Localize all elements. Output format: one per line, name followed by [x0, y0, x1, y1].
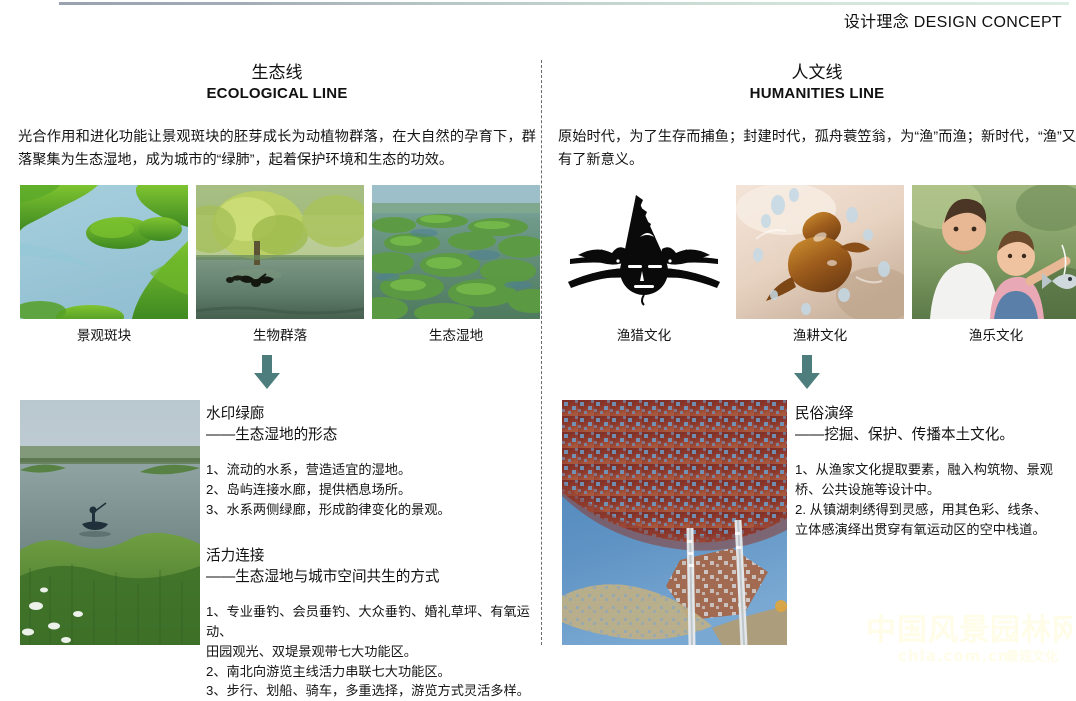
ecological-heading: 生态线 ECOLOGICAL LINE [18, 62, 536, 104]
eco-block-title: 水印绿廊 [206, 404, 542, 425]
father-child-fish-photo [912, 185, 1076, 319]
page-title: 设计理念 DESIGN CONCEPT [844, 8, 1062, 32]
list-item: 1、流动的水系，营造适宜的湿地。 [206, 460, 542, 480]
list-item: 1、从渔家文化提取要素，融入构筑物、景观 桥、公共设施等设计中。 [795, 460, 1076, 500]
eco-block-list-1: 1、流动的水系，营造适宜的湿地。 2、岛屿连接水廊，提供栖息场所。 3、水系两侧… [206, 460, 542, 519]
list-item: 1、专业垂钓、会员垂钓、大众垂钓、婚礼草坪、有氧运动、 田园观光、双堤景观带七大… [206, 602, 542, 661]
eco-block-subtitle: ——生态湿地的形态 [206, 425, 542, 446]
ecological-bottom-text: 水印绿廊 ——生态湿地的形态 1、流动的水系，营造适宜的湿地。 2、岛屿连接水廊… [206, 404, 542, 701]
arrow-down-icon-ecological [247, 352, 287, 392]
eco-block-list-2: 1、专业垂钓、会员垂钓、大众垂钓、婚礼草坪、有氧运动、 田园观光、双堤景观带七大… [206, 602, 542, 701]
hum-block-title: 民俗演绎 [795, 404, 1076, 425]
thumbnail-caption: 生态湿地 [372, 329, 540, 343]
thumbnail-caption: 生物群落 [196, 329, 364, 343]
wetland-channels-photo [20, 185, 188, 319]
spacer [206, 520, 542, 546]
humanities-heading: 人文线 HUMANITIES LINE [558, 62, 1076, 104]
humanities-intro-text: 原始时代，为了生存而捕鱼；封建时代，孤舟蓑笠翁，为“渔”而渔；新时代，“渔”又有… [558, 126, 1076, 172]
humanities-column: 人文线 HUMANITIES LINE 原始时代，为了生存而捕鱼；封建时代，孤舟… [558, 62, 1076, 172]
svg-text:中国风景园林网: 中国风景园林网 [866, 613, 1072, 648]
eco-block-subtitle-2: ——生态湿地与城市空间共生的方式 [206, 567, 542, 588]
thumbnail-caption: 渔乐文化 [912, 329, 1076, 343]
ecological-heading-cn: 生态线 [18, 62, 536, 84]
humanities-bottom-text: 民俗演绎 ——挖掘、保护、传播本土文化。 1、从渔家文化提取要素，融入构筑物、景… [795, 404, 1076, 540]
ecological-heading-en: ECOLOGICAL LINE [18, 84, 536, 104]
thumbnail-item[interactable]: 渔耕文化 [736, 185, 904, 343]
thumbnail-item[interactable]: 渔乐文化 [912, 185, 1076, 343]
hum-block-list-1: 1、从渔家文化提取要素，融入构筑物、景观 桥、公共设施等设计中。 2. 从镇湖刺… [795, 460, 1076, 539]
thumbnail-caption: 景观斑块 [20, 329, 188, 343]
humanities-heading-cn: 人文线 [558, 62, 1076, 84]
list-item: 3、水系两侧绿廊，形成韵律变化的景观。 [206, 500, 542, 520]
thumbnail-item[interactable]: 生态湿地 [372, 185, 540, 343]
ecological-column: 生态线 ECOLOGICAL LINE 光合作用和进化功能让景观斑块的胚芽成长为… [18, 62, 536, 172]
thumbnail-caption: 渔耕文化 [736, 329, 904, 343]
boat-in-reeds-photo [20, 400, 200, 645]
humanities-heading-en: HUMANITIES LINE [558, 84, 1076, 104]
fish-splash-photo [736, 185, 904, 319]
top-gradient-rule [59, 2, 1069, 5]
thumbnail-item[interactable]: 生物群落 [196, 185, 364, 343]
svg-text:景观文化: 景观文化 [1006, 649, 1058, 665]
ecological-thumbnail-row: 景观斑块 [20, 185, 540, 343]
list-item: 3、步行、划船、骑车，多重选择，游览方式灵活多样。 [206, 681, 542, 701]
list-item: 2. 从镇湖刺绣得到灵感，用其色彩、线条、 立体感演绎出贯穿有氧运动区的空中栈道… [795, 500, 1076, 540]
aerial-marsh-photo [372, 185, 540, 319]
thumbnail-item[interactable]: 渔猎文化 [560, 185, 728, 343]
site-watermark: 中国风景园林网 chla.com.cn 景观文化 [864, 604, 1072, 672]
humanities-thumbnail-row: 渔猎文化 [560, 185, 1076, 343]
hum-block-subtitle: ——挖掘、保护、传播本土文化。 [795, 425, 1076, 446]
eco-block-title-2: 活力连接 [206, 546, 542, 567]
tribal-mask-petroglyph-graphic [560, 185, 728, 319]
thumbnail-caption: 渔猎文化 [560, 329, 728, 343]
list-item: 2、南北向游览主线活力串联七大功能区。 [206, 662, 542, 682]
arrow-down-icon-humanities [787, 352, 827, 392]
thumbnail-item[interactable]: 景观斑块 [20, 185, 188, 343]
ecological-intro-text: 光合作用和进化功能让景观斑块的胚芽成长为动植物群落，在大自然的孕育下，群落聚集为… [18, 126, 536, 172]
list-item: 2、岛屿连接水廊，提供栖息场所。 [206, 480, 542, 500]
red-net-canopy-photo [562, 400, 787, 645]
svg-text:chla.com.cn: chla.com.cn [898, 647, 1010, 665]
lake-tree-birds-photo [196, 185, 364, 319]
